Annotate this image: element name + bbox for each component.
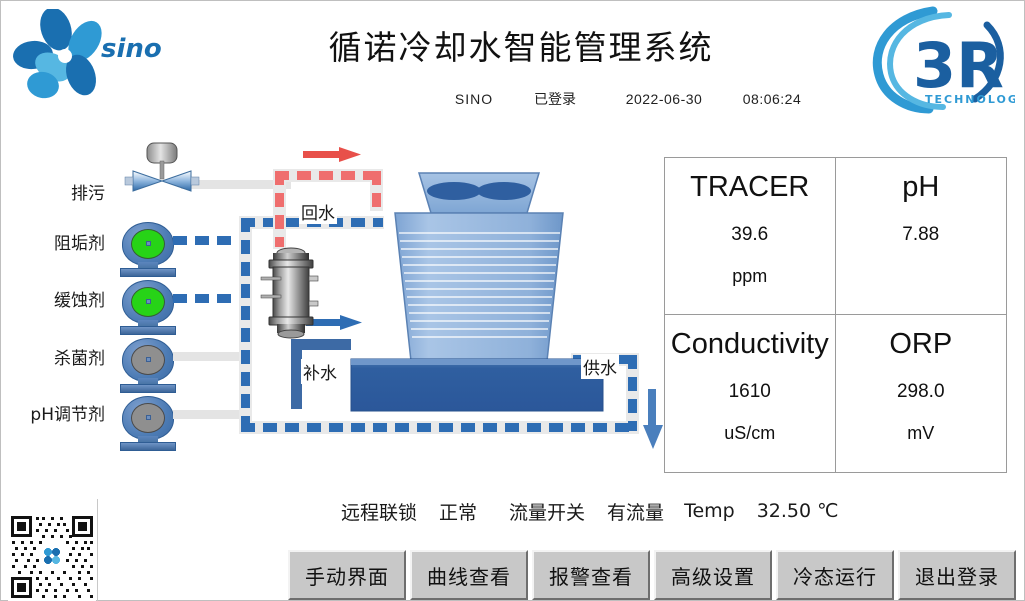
pump-biocide[interactable] (118, 338, 178, 394)
left-divider (97, 499, 98, 601)
flow-return-riser-red (275, 171, 284, 247)
system-time: 08:06:24 (725, 91, 819, 107)
flow-switch-value: 有流量 (607, 498, 664, 525)
readout-value: 298.0 (897, 381, 945, 403)
button-advanced-settings[interactable]: 高级设置 (654, 550, 772, 600)
system-date: 2022-06-30 (603, 91, 725, 107)
cooling-tower (341, 161, 621, 431)
page-title: 循诺冷却水智能管理系统 (291, 21, 751, 69)
basin-waterline (351, 359, 603, 365)
pump-base (120, 268, 176, 277)
pump-ph-adjuster[interactable] (118, 396, 178, 452)
pump-center-pip (146, 357, 151, 362)
sino-wordmark: sino (101, 34, 162, 64)
pump-base (120, 384, 176, 393)
remote-interlock-value: 正常 (439, 498, 477, 525)
flow-right-riser (628, 355, 637, 431)
button-alarm-view[interactable]: 报警查看 (532, 550, 650, 600)
login-status: 已登录 (507, 89, 603, 109)
readout-tile-ph: pH 7.88 (836, 158, 1007, 315)
readout-tile-conductivity: Conductivity 1610 uS/cm (665, 315, 836, 472)
tower-basin (351, 359, 603, 411)
heat-exchanger[interactable] (259, 245, 323, 341)
label-makeup-water: 补水 (301, 359, 339, 384)
navigation-button-bar: 手动界面 曲线查看 报警查看 高级设置 冷态运行 退出登录 (288, 550, 1016, 600)
readout-unit: ppm (732, 266, 767, 287)
pump-base (120, 442, 176, 451)
3r-wordmark: 3R (913, 29, 1004, 102)
temp-value: 32.50 (757, 500, 811, 522)
3r-technology-logo: 3R TECHNOLOGY (863, 3, 1015, 115)
arrow-supply-water (642, 389, 664, 451)
readout-name: Conductivity (671, 329, 829, 361)
pump-center-pip (146, 299, 151, 304)
fan-blade-right (477, 182, 531, 200)
label-return-water: 回水 (299, 199, 337, 224)
readout-name: TRACER (690, 172, 809, 204)
readout-unit: uS/cm (724, 423, 775, 444)
readout-value: 1610 (729, 381, 771, 403)
qr-center-logo (41, 546, 63, 568)
readout-tile-tracer: TRACER 39.6 ppm (665, 158, 836, 315)
pump-center-pip (146, 415, 151, 420)
pump-corrosion-inhibitor[interactable] (118, 280, 178, 336)
readout-name: ORP (889, 329, 952, 361)
readout-unit: mV (907, 423, 934, 444)
header-bar: sino 循诺冷却水智能管理系统 SINO 已登录 2022-06-30 08:… (1, 1, 1024, 121)
process-diagram: 回水 补水 供水 (1, 121, 661, 481)
3r-tagline: TECHNOLOGY (925, 93, 1015, 106)
flow-left-riser (241, 218, 250, 432)
status-row: 远程联锁 正常 流量开关 有流量 Temp 32.50 ℃ (341, 495, 1011, 527)
user-name: SINO (441, 91, 507, 107)
qr-code[interactable] (8, 513, 96, 601)
measurement-panel: TRACER 39.6 ppm pH 7.88 Conductivity 161… (664, 157, 1007, 473)
sino-petals (13, 9, 109, 101)
temp-unit: ℃ (817, 500, 838, 522)
button-manual-interface[interactable]: 手动界面 (288, 550, 406, 600)
readout-name: pH (902, 172, 939, 204)
button-trend-view[interactable]: 曲线查看 (410, 550, 528, 600)
blowdown-valve[interactable] (119, 141, 205, 197)
sino-logo: sino (13, 9, 163, 105)
readout-tile-orp: ORP 298.0 mV (836, 315, 1007, 472)
valve-actuator (147, 143, 177, 163)
pump-scale-inhibitor[interactable] (118, 222, 178, 278)
button-logout[interactable]: 退出登录 (898, 550, 1016, 600)
pump-base (120, 326, 176, 335)
readout-value: 7.88 (902, 224, 939, 246)
label-supply-water: 供水 (581, 354, 619, 379)
temp-label: Temp (684, 500, 735, 522)
button-cold-start-run[interactable]: 冷态运行 (776, 550, 894, 600)
readout-value: 39.6 (731, 224, 768, 246)
scada-screen: sino 循诺冷却水智能管理系统 SINO 已登录 2022-06-30 08:… (0, 0, 1025, 601)
fan-blade-left (427, 182, 481, 200)
session-status: SINO 已登录 2022-06-30 08:06:24 (441, 89, 901, 109)
tower-shell (395, 213, 563, 361)
flow-switch-label: 流量开关 (509, 498, 585, 525)
remote-interlock-label: 远程联锁 (341, 498, 417, 525)
pump-center-pip (146, 241, 151, 246)
